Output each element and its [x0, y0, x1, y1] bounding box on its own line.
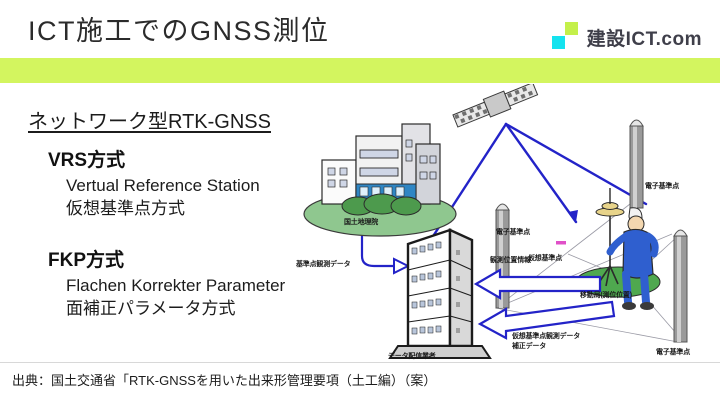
label-obs-position-info: 観測位置情報: [490, 256, 531, 265]
section-subheading: ネットワーク型RTK-GNSS: [28, 105, 271, 134]
label-gsi: 国土地理院: [344, 218, 378, 227]
logo-cyan-square-icon: [552, 36, 565, 49]
fkp-line-en: Flachen Korrekter Parameter: [48, 274, 285, 297]
brand-logo: 建設ICT.com: [552, 17, 702, 51]
footer-divider: [0, 362, 720, 363]
vrs-block: VRS方式 Vertual Reference Station 仮想基準点方式: [48, 148, 260, 220]
fkp-line-jp: 面補正パラメータ方式: [48, 297, 285, 320]
vrs-heading: VRS方式: [48, 148, 260, 174]
source-note: 出典：国土交通省「RTK-GNSSを用いた出来形管理要項（土工編）（案）: [12, 370, 436, 389]
gsi-building-illustration: [304, 124, 456, 236]
arrow-gsi-to-provider: [362, 236, 408, 273]
label-virtual-base-data-line2: 補正データ: [512, 342, 546, 351]
label-data-provider: データ配信業者: [388, 352, 436, 361]
label-virtual-base-point: 仮想基準点: [528, 254, 562, 263]
header-green-band: [0, 58, 720, 83]
logo-green-square-icon: [565, 22, 578, 35]
satellite-signal-rays: [428, 124, 646, 244]
logo-squares: [552, 21, 582, 51]
label-base-obs-data: 基準点観測データ: [296, 260, 350, 269]
gnss-antenna-icon: [596, 188, 624, 216]
fkp-block: FKP方式 Flachen Korrekter Parameter 面補正パラメ…: [48, 248, 285, 320]
label-ref-point-bottom-right: 電子基準点: [656, 348, 690, 357]
logo-text: 建設ICT.com: [587, 29, 702, 51]
virtual-reference-point-marker: [556, 241, 566, 245]
satellite-icon: [452, 84, 539, 130]
ref-point-top-right-icon: [630, 120, 643, 208]
vrs-line-jp: 仮想基準点方式: [48, 197, 260, 220]
ray-arrow-head: [568, 210, 578, 222]
page-title: ICT施工でのGNSS測位: [28, 14, 330, 48]
label-ref-point-top-right: 電子基準点: [645, 182, 679, 191]
label-virtual-base-data-line1: 仮想基準点観測データ: [512, 332, 580, 341]
slide-root: ICT施工でのGNSS測位 建設ICT.com ネットワーク型RTK-GNSS …: [0, 0, 720, 405]
ref-point-bottom-right-icon: [674, 230, 687, 342]
data-provider-building-illustration: [390, 230, 490, 358]
vrs-line-en: Vertual Reference Station: [48, 174, 260, 197]
fkp-heading: FKP方式: [48, 248, 285, 274]
label-ref-point-left: 電子基準点: [496, 228, 530, 237]
label-rover: 移動局(測位位置): [580, 291, 632, 300]
gnss-network-diagram: 国土地理院 基準点観測データ データ配信業者 観測位置情報 仮想基準点観測データ…: [300, 84, 720, 360]
